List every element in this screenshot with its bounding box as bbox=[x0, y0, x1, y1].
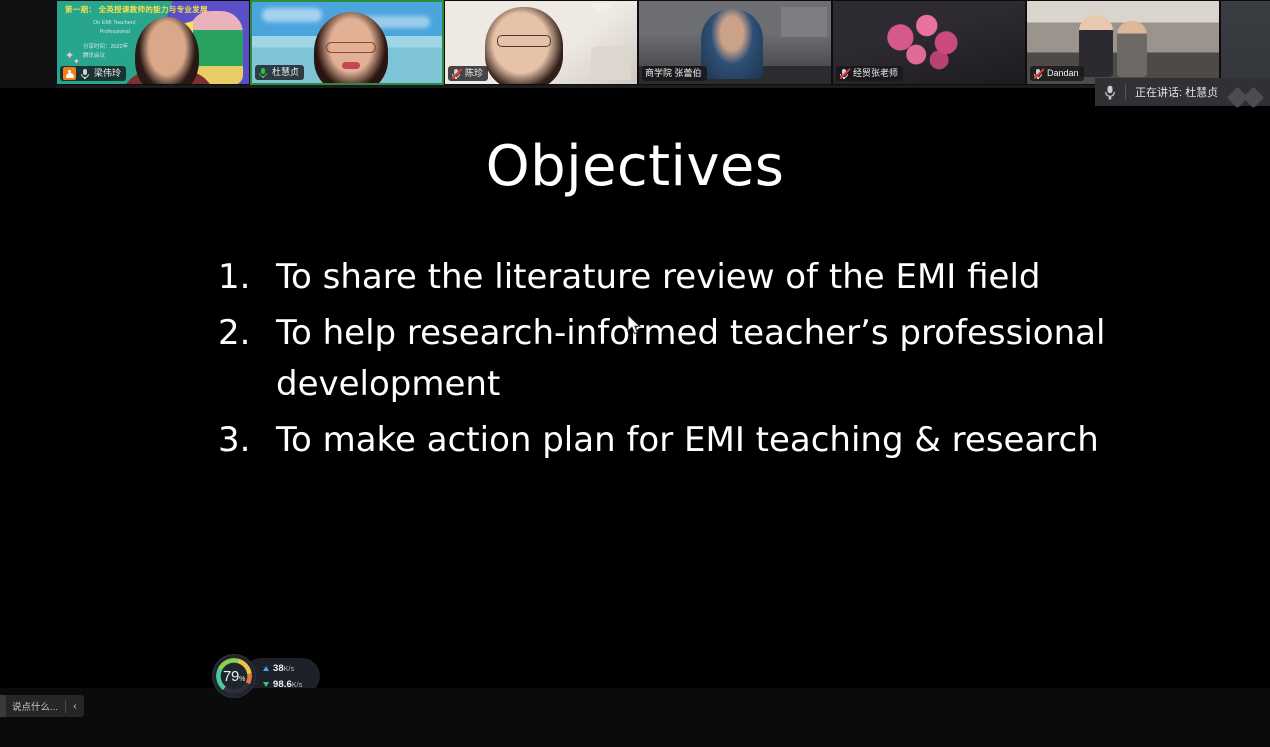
filmstrip-left-pad bbox=[0, 0, 56, 88]
list-item-number: 2. bbox=[218, 308, 264, 358]
participant-tile[interactable]: 陈珍 bbox=[444, 0, 638, 85]
participant-name-badge: 陈珍 bbox=[448, 66, 488, 81]
active-speaker-indicator[interactable]: 正在讲话: 杜慧贞 bbox=[1095, 78, 1270, 106]
slide-list-item: 3. To make action plan for EMI teaching … bbox=[218, 415, 1118, 465]
poster-date-line-1: 分享时间：2022年 bbox=[83, 43, 128, 52]
slide-bullet-list: 1. To share the literature review of the… bbox=[218, 252, 1118, 471]
active-speaker-label: 正在讲话: 杜慧贞 bbox=[1126, 84, 1228, 100]
participant-name-badge: 杜慧贞 bbox=[255, 65, 304, 80]
participant-tile[interactable]: Dandan bbox=[1026, 0, 1220, 85]
participant-tile[interactable]: 经贸张老师 bbox=[832, 0, 1026, 85]
microphone-icon bbox=[258, 67, 268, 79]
participant-tile-empty bbox=[1220, 0, 1270, 85]
poster-subtitle-line-1: On EMI Teachers' bbox=[93, 19, 136, 28]
glasses bbox=[497, 35, 551, 47]
zoom-meeting-screen: 第一期： 全英授课教师的能力与专业发展 On EMI Teachers' Pro… bbox=[0, 0, 1270, 747]
chat-input-dock[interactable]: 说点什么... ‹ bbox=[0, 695, 84, 717]
list-item-number: 3. bbox=[218, 415, 264, 465]
arrow-down-icon bbox=[263, 682, 269, 687]
participant-name-badge: 商学院 张蕾伯 bbox=[642, 66, 707, 81]
glasses bbox=[326, 42, 376, 53]
download-rate-value: 98.6K/s bbox=[273, 679, 302, 690]
participant-name: 梁伟玲 bbox=[94, 69, 121, 78]
list-item-text: To share the literature review of the EM… bbox=[276, 257, 1041, 297]
list-item-text: To make action plan for EMI teaching & r… bbox=[276, 420, 1099, 460]
participant-name-badge: 梁伟玲 bbox=[60, 66, 126, 81]
participant-name-badge: 经贸张老师 bbox=[836, 66, 903, 81]
list-item-text: To help research-informed teacher’s prof… bbox=[276, 313, 1105, 403]
chat-input-placeholder[interactable]: 说点什么... bbox=[6, 699, 65, 713]
slide-title: Objectives bbox=[0, 134, 1270, 199]
person-figure bbox=[1117, 21, 1147, 77]
background-wall bbox=[781, 7, 827, 37]
bottom-bar: 说点什么... ‹ bbox=[0, 688, 1270, 747]
sparkle-icon: ✦ bbox=[73, 57, 80, 66]
poster-date-line-2: 腾讯会议 bbox=[83, 52, 128, 61]
poster-subtitle-line-2: Professional bbox=[93, 28, 136, 37]
download-rate-row: 98.6K/s bbox=[263, 678, 302, 691]
lamp bbox=[593, 3, 611, 13]
network-rates: 38K/s 98.6K/s bbox=[263, 661, 302, 691]
participant-name: 杜慧贞 bbox=[272, 68, 299, 77]
download-rate-unit: K/s bbox=[292, 682, 302, 689]
participant-tile[interactable]: 商学院 张蕾伯 bbox=[638, 0, 832, 85]
microphone-icon bbox=[80, 68, 90, 80]
microphone-muted-icon bbox=[1033, 68, 1043, 80]
slide-list-item: 1. To share the literature review of the… bbox=[218, 252, 1118, 302]
chair bbox=[591, 46, 631, 80]
slide-list-item: 2. To help research-informed teacher’s p… bbox=[218, 308, 1118, 409]
person-figure bbox=[701, 9, 763, 79]
chevron-left-icon[interactable]: ‹ bbox=[66, 701, 84, 712]
participant-tile[interactable]: 第一期： 全英授课教师的能力与专业发展 On EMI Teachers' Pro… bbox=[56, 0, 250, 85]
list-item-number: 1. bbox=[218, 252, 264, 302]
poster-subtitle: On EMI Teachers' Professional bbox=[93, 19, 136, 36]
participant-name: 商学院 张蕾伯 bbox=[645, 69, 702, 78]
upload-rate-row: 38K/s bbox=[263, 662, 302, 675]
person-figure bbox=[1079, 15, 1113, 77]
shared-screen-slide: Objectives 1. To share the literature re… bbox=[0, 88, 1270, 688]
poster-date: 分享时间：2022年 腾讯会议 bbox=[83, 43, 128, 61]
participant-filmstrip: 第一期： 全英授课教师的能力与专业发展 On EMI Teachers' Pro… bbox=[0, 0, 1270, 88]
person-head bbox=[135, 17, 199, 85]
percent-sign: % bbox=[239, 676, 245, 683]
cpu-usage-value: 79% bbox=[223, 668, 245, 685]
microphone-icon bbox=[1095, 86, 1125, 98]
collapse-filmstrip-icon[interactable] bbox=[1228, 78, 1270, 106]
participant-name-badge: Dandan bbox=[1030, 66, 1084, 81]
background-cloud bbox=[262, 8, 322, 22]
microphone-muted-icon bbox=[839, 68, 849, 80]
cpu-usage-ring: 79% bbox=[213, 655, 255, 697]
upload-rate-value: 38K/s bbox=[273, 663, 294, 674]
participant-name: 陈珍 bbox=[465, 69, 483, 78]
upload-rate-unit: K/s bbox=[284, 666, 294, 673]
host-badge-icon bbox=[63, 67, 76, 80]
participant-name: Dandan bbox=[1047, 69, 1079, 78]
participant-name: 经贸张老师 bbox=[853, 69, 898, 78]
microphone-muted-icon bbox=[451, 68, 461, 80]
arrow-up-icon bbox=[263, 666, 269, 671]
lips bbox=[342, 62, 360, 69]
participant-tile[interactable]: 杜慧贞 bbox=[250, 0, 444, 85]
